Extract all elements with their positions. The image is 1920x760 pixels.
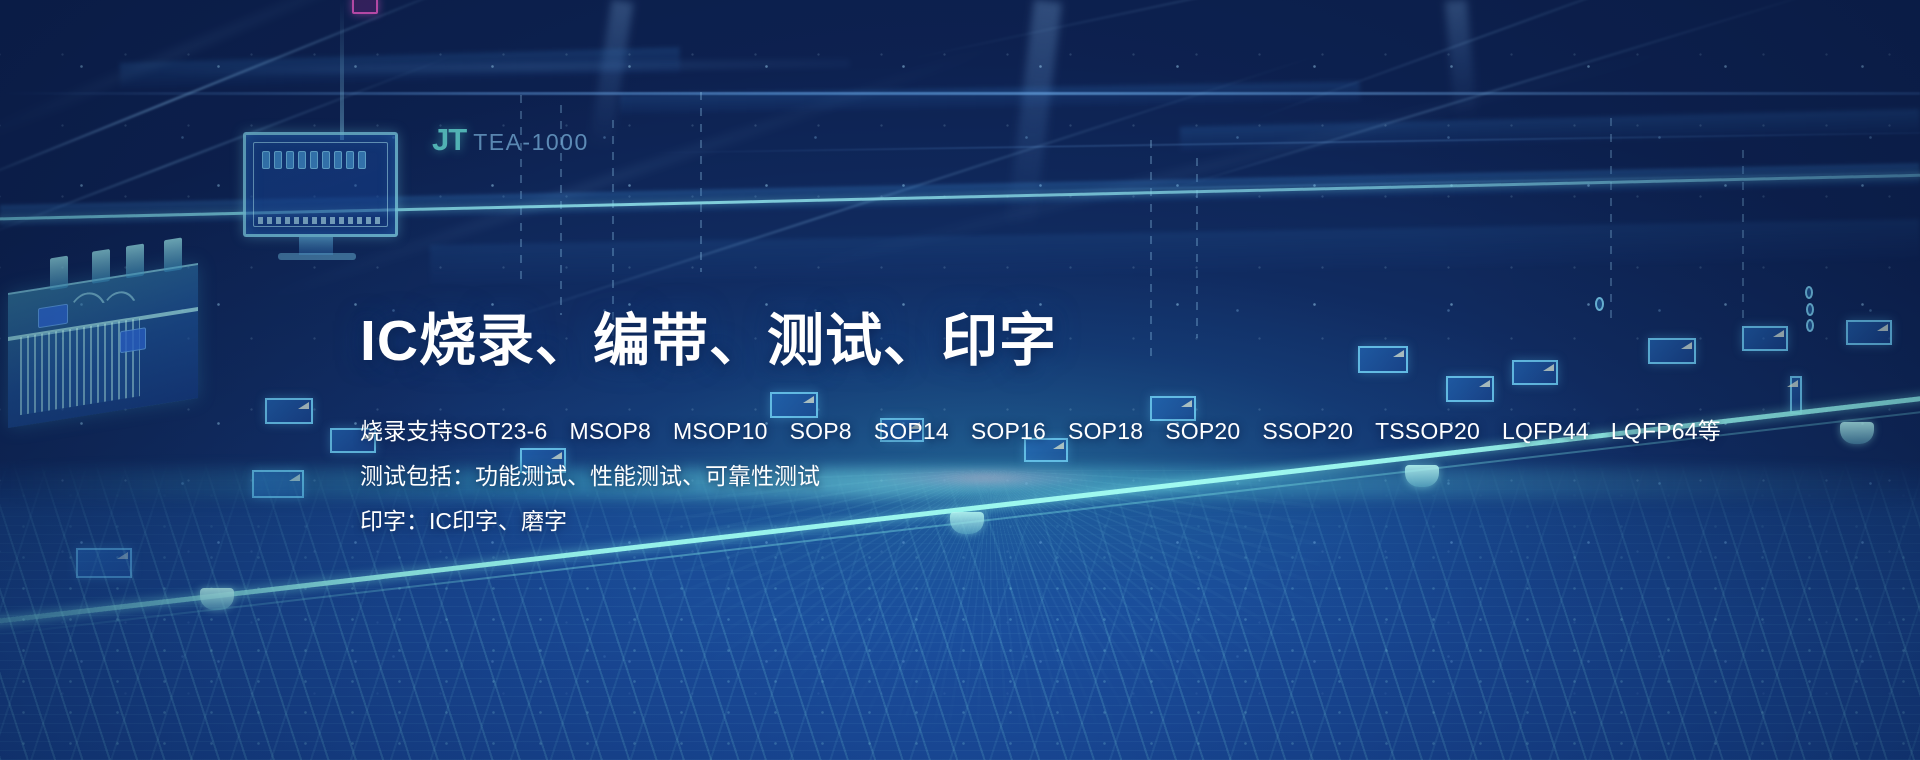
indicator-pill xyxy=(1805,286,1813,299)
hero-copy: IC烧录、编带、测试、印字 烧录支持SOT23-6MSOP8MSOP10SOP8… xyxy=(360,312,1721,533)
indicator-pill xyxy=(1806,303,1814,316)
marking-scope-line: 印字：IC印字、磨字 xyxy=(360,510,1721,533)
package-item: SOP16 xyxy=(971,418,1046,444)
package-item: SOP14 xyxy=(874,418,949,444)
package-item: SOP8 xyxy=(790,418,852,444)
machine-cylinder xyxy=(126,244,144,279)
package-item: SSOP20 xyxy=(1262,418,1353,444)
indicator-pill xyxy=(1595,297,1604,311)
brand-mark: JT xyxy=(432,122,466,158)
machine-module xyxy=(120,327,146,353)
chip-sprite xyxy=(1742,326,1788,351)
brand-model: TEA-1000 xyxy=(473,129,589,156)
conveyor-rail-foot xyxy=(1840,422,1874,444)
package-item: MSOP10 xyxy=(673,418,768,444)
hero-subtext-list: 烧录支持SOT23-6MSOP8MSOP10SOP8SOP14SOP16SOP1… xyxy=(360,420,1721,533)
testing-scope-line: 测试包括：功能测试、性能测试、可靠性测试 xyxy=(360,465,1721,488)
package-item: LQFP44 xyxy=(1502,418,1589,444)
machine-cylinder xyxy=(92,249,110,284)
conveyor-rail-foot xyxy=(200,588,234,610)
monitor-status-bar xyxy=(258,217,383,224)
package-item: TSSOP20 xyxy=(1375,418,1480,444)
particle-trail xyxy=(1610,118,1612,318)
chip-sprite xyxy=(1846,320,1892,345)
machine-brand: JT TEA-1000 xyxy=(432,122,589,158)
monitor-base xyxy=(278,253,356,260)
package-item: SOP20 xyxy=(1165,418,1240,444)
package-item: SOP18 xyxy=(1068,418,1143,444)
vertical-module xyxy=(1790,376,1802,414)
machine-cylinder xyxy=(50,256,68,291)
particle-trail xyxy=(700,92,702,272)
monitor-chip-row xyxy=(262,151,366,169)
package-prefix: 烧录支持SOT23-6 xyxy=(360,418,548,444)
machine-cylinder xyxy=(164,237,182,272)
package-support-line: 烧录支持SOT23-6MSOP8MSOP10SOP8SOP14SOP16SOP1… xyxy=(360,420,1721,443)
page-title: IC烧录、编带、测试、印字 xyxy=(360,312,1721,372)
ceiling-pole xyxy=(340,0,344,140)
monitor-screen-icon xyxy=(243,132,398,237)
chip-sprite xyxy=(265,398,313,424)
package-item: LQFP64等 xyxy=(1611,418,1721,444)
indicator-pill xyxy=(1806,319,1814,332)
package-item: MSOP8 xyxy=(570,418,652,444)
hero-banner: JT TEA-1000 xyxy=(0,0,1920,760)
indicator-tag-icon xyxy=(352,0,378,14)
